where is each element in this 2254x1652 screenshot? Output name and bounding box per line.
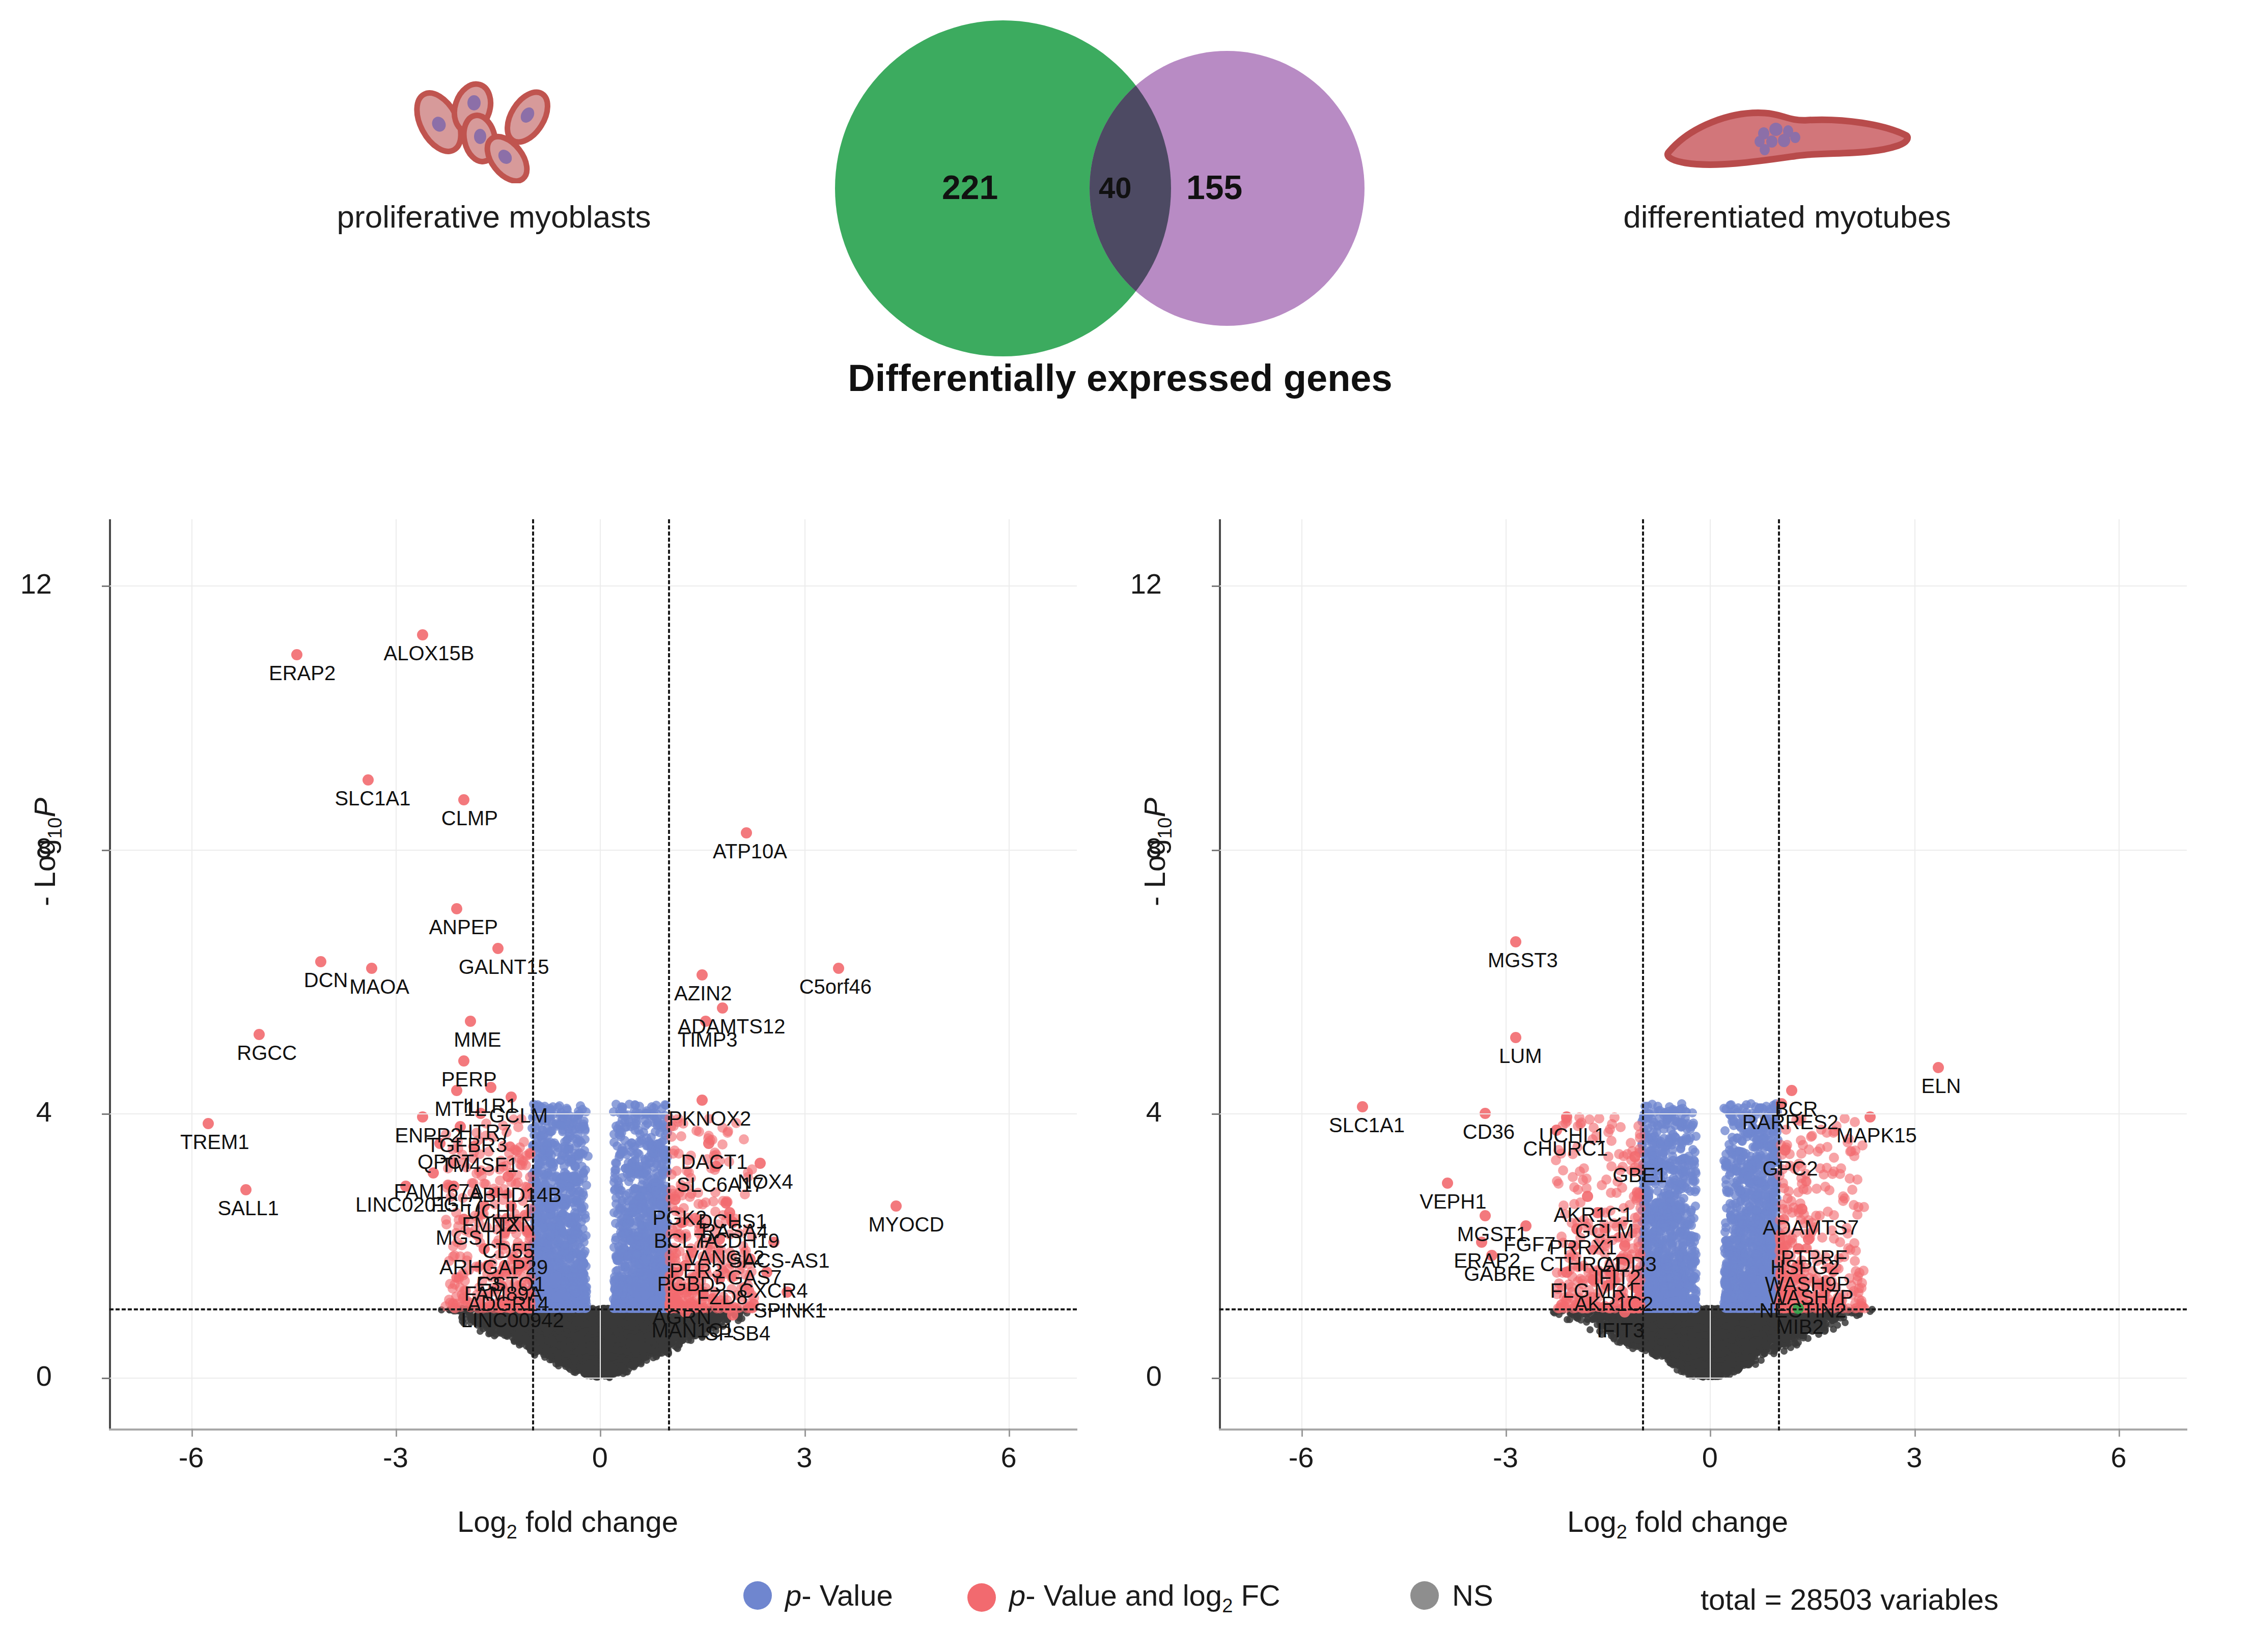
scatter-point — [586, 1359, 593, 1366]
scatter-point — [1720, 1268, 1729, 1277]
scatter-point — [542, 1347, 549, 1354]
scatter-point — [1717, 1366, 1724, 1373]
scatter-point — [1663, 1205, 1672, 1214]
scatter-point — [1657, 1193, 1666, 1202]
scatter-point — [1659, 1148, 1668, 1157]
x-tick-label: 3 — [1884, 1441, 1945, 1474]
scatter-point — [1933, 1062, 1944, 1073]
x-tick-label: -6 — [1271, 1441, 1332, 1474]
scatter-point — [445, 1279, 455, 1289]
gene-label: DCN — [304, 969, 348, 992]
scatter-point — [1616, 1122, 1626, 1132]
scatter-point — [636, 1346, 643, 1353]
scatter-point — [1668, 1152, 1677, 1161]
scatter-point — [650, 1255, 659, 1265]
scatter-point — [611, 1233, 621, 1242]
scatter-point — [564, 1322, 571, 1329]
scatter-point — [635, 1139, 645, 1148]
scatter-point — [465, 1016, 476, 1027]
scatter-point — [1767, 1142, 1776, 1152]
legend-item-p-value-log2fc: p- Value and log2 FC — [967, 1578, 1281, 1617]
scatter-point — [1786, 1085, 1797, 1096]
scatter-point — [1629, 1345, 1636, 1352]
gridline-vertical — [1301, 519, 1302, 1431]
x-tick-mark — [1914, 1429, 1916, 1437]
scatter-point — [543, 1142, 552, 1151]
scatter-point — [538, 1213, 547, 1222]
scatter-point — [458, 794, 469, 805]
scatter-point — [1510, 936, 1521, 947]
scatter-point — [1740, 1236, 1749, 1245]
scatter-point — [583, 1152, 593, 1161]
scatter-point — [1658, 1328, 1665, 1335]
gene-label: IFIT3 — [1597, 1319, 1644, 1342]
gridline-vertical — [1009, 519, 1010, 1431]
x-tick-label: 6 — [978, 1441, 1039, 1474]
scatter-point — [590, 1328, 597, 1335]
scatter-point — [1762, 1102, 1771, 1111]
gene-label: TM4SF1 — [440, 1154, 518, 1177]
scatter-point — [1729, 1368, 1736, 1375]
gene-label: ELN — [1922, 1075, 1961, 1098]
gene-label: PERP — [441, 1068, 497, 1091]
scatter-point — [1671, 1185, 1680, 1194]
gene-label: SALL1 — [218, 1197, 279, 1220]
x-tick-label: -6 — [161, 1441, 222, 1474]
scatter-point — [1732, 1303, 1741, 1312]
scatter-point — [1751, 1158, 1761, 1167]
gridline-vertical — [2119, 519, 2120, 1431]
y-tick-label: 0 — [0, 1359, 52, 1392]
y-tick-mark — [102, 585, 110, 587]
scatter-point — [581, 1295, 590, 1304]
total-variables-text: total = 28503 variables — [1701, 1582, 1998, 1616]
scatter-point — [1840, 1113, 1850, 1124]
scatter-point — [451, 903, 462, 914]
gene-label: ATP10A — [713, 840, 787, 863]
scatter-point — [630, 1207, 639, 1216]
scatter-point — [1357, 1101, 1368, 1112]
scatter-point — [1587, 1326, 1594, 1333]
scatter-point — [544, 1337, 551, 1345]
scatter-point — [648, 1347, 655, 1354]
scatter-point — [568, 1251, 577, 1261]
scatter-point — [623, 1110, 632, 1119]
venn-right-count: 155 — [1186, 168, 1242, 207]
x-tick-label: 0 — [1679, 1441, 1740, 1474]
pvalue-cutoff-line — [109, 1308, 1077, 1310]
gridline-horizontal — [1219, 1378, 2187, 1379]
scatter-point — [1699, 1343, 1706, 1350]
scatter-point — [1594, 1113, 1604, 1124]
scatter-point — [525, 1148, 536, 1158]
plot-area-right — [1219, 519, 2187, 1456]
y-tick-mark — [1212, 585, 1220, 587]
scatter-point — [653, 1139, 662, 1149]
scatter-point — [1672, 1226, 1681, 1235]
scatter-point — [539, 1223, 548, 1233]
scatter-point — [623, 1252, 632, 1261]
scatter-point — [1726, 1211, 1735, 1220]
scatter-point — [1690, 1187, 1700, 1196]
scatter-point — [1659, 1284, 1668, 1293]
scatter-point — [642, 1171, 651, 1181]
scatter-point — [1676, 1143, 1685, 1153]
scatter-point — [652, 1101, 661, 1110]
scatter-point — [1682, 1252, 1691, 1262]
scatter-point — [1754, 1216, 1763, 1225]
scatter-point — [637, 1334, 645, 1341]
legend: p- Value p- Value and log2 FC NS total =… — [0, 1558, 2254, 1629]
volcano-plot-differentiated-myotubes: - Log10P Log2 fold change -6-303604812MG… — [1130, 519, 2225, 1537]
gene-label: RARRES2 — [1742, 1111, 1839, 1134]
scatter-point — [626, 1217, 635, 1226]
scatter-point — [1649, 1314, 1656, 1322]
scatter-point — [1690, 1348, 1698, 1355]
scatter-point — [583, 1321, 590, 1328]
scatter-point — [417, 1111, 428, 1123]
gridline-horizontal — [109, 585, 1077, 586]
scatter-point — [1721, 1293, 1731, 1302]
gene-label: LUM — [1499, 1045, 1542, 1068]
gene-label: ANPEP — [429, 916, 498, 939]
scatter-point — [291, 649, 302, 660]
scatter-point — [1667, 1140, 1677, 1150]
scatter-point — [1724, 1250, 1734, 1259]
proliferative-myoblasts-icon — [407, 71, 580, 183]
x-tick-mark — [191, 1429, 193, 1437]
differentiated-myotubes-caption: differentiated myotubes — [1553, 199, 2021, 235]
scatter-point — [1573, 1185, 1583, 1195]
scatter-point — [610, 1323, 617, 1330]
scatter-point — [1764, 1244, 1773, 1253]
scatter-point — [632, 1119, 641, 1129]
legend-label-p-value: p- Value — [785, 1578, 893, 1612]
gene-label: GALNT15 — [459, 956, 549, 978]
x-axis-label-left: Log2 fold change — [20, 1504, 1115, 1543]
scatter-point — [635, 1315, 643, 1322]
venn-diagram: 221 40 155 — [835, 20, 1405, 356]
scatter-point — [1665, 1297, 1675, 1306]
gene-label: GABRE — [1464, 1263, 1535, 1285]
scatter-point — [1691, 1233, 1701, 1242]
scatter-point — [1442, 1178, 1453, 1189]
scatter-point — [1812, 1184, 1822, 1194]
y-tick-label: 8 — [0, 831, 52, 864]
scatter-point — [1703, 1319, 1710, 1326]
scatter-point — [1691, 1286, 1701, 1295]
scatter-point — [1858, 1266, 1869, 1276]
scatter-point — [1743, 1162, 1752, 1171]
differentiated-myotube-icon — [1655, 87, 1919, 178]
scatter-point — [1696, 1371, 1704, 1378]
scatter-point — [1510, 1032, 1521, 1043]
gene-label: SLC1A1 — [1329, 1114, 1405, 1137]
scatter-point — [1740, 1253, 1749, 1262]
scatter-point — [1729, 1336, 1736, 1343]
y-tick-mark — [102, 1378, 110, 1379]
scatter-point — [1813, 1146, 1823, 1157]
gene-label: CLMP — [441, 807, 498, 830]
legend-item-ns: NS — [1410, 1578, 1493, 1612]
y-tick-label: 8 — [1101, 831, 1162, 864]
scatter-point — [1733, 1167, 1742, 1176]
scatter-point — [629, 1186, 638, 1195]
scatter-point — [676, 1131, 686, 1141]
scatter-point — [1744, 1201, 1754, 1211]
scatter-point — [1838, 1196, 1848, 1206]
y-tick-mark — [102, 1113, 110, 1115]
gene-label: PKNOX2 — [669, 1107, 751, 1130]
scatter-point — [1853, 1287, 1863, 1298]
gridline-vertical — [600, 519, 601, 1431]
scatter-point — [1697, 1351, 1704, 1358]
y-tick-label: 0 — [1101, 1359, 1162, 1392]
scatter-point — [240, 1184, 252, 1195]
gene-label: MIB2 — [1776, 1315, 1823, 1338]
y-tick-label: 12 — [0, 567, 52, 600]
scatter-point — [833, 963, 844, 974]
legend-swatch-p-value-log2fc — [967, 1583, 996, 1612]
y-tick-label: 4 — [0, 1095, 52, 1128]
scatter-point — [1680, 1327, 1687, 1334]
gene-label: MYOCD — [868, 1213, 944, 1236]
scatter-point — [570, 1230, 579, 1239]
scatter-point — [1686, 1133, 1695, 1142]
scatter-point — [1584, 1316, 1591, 1323]
scatter-point — [574, 1213, 583, 1222]
x-tick-mark — [396, 1429, 397, 1437]
gene-label: SPSB4 — [705, 1322, 770, 1345]
scatter-point — [203, 1118, 214, 1129]
scatter-point — [611, 1122, 621, 1131]
scatter-point — [1629, 1151, 1640, 1162]
scatter-point — [1690, 1247, 1700, 1256]
scatter-point — [634, 1150, 644, 1159]
scatter-point — [1762, 1342, 1769, 1349]
y-tick-label: 12 — [1101, 567, 1162, 600]
gridline-horizontal — [109, 850, 1077, 851]
gene-label: AKR1C2 — [1574, 1293, 1654, 1315]
x-tick-mark — [804, 1429, 806, 1437]
scatter-point — [1829, 1153, 1839, 1163]
scatter-point — [1819, 1169, 1829, 1180]
scatter-point — [1720, 1126, 1730, 1135]
scatter-point — [1731, 1199, 1740, 1208]
scatter-point — [598, 1327, 605, 1334]
gene-label: TIMP3 — [678, 1028, 738, 1051]
plot-area-left — [109, 519, 1077, 1456]
scatter-point — [612, 1369, 619, 1377]
scatter-point — [315, 956, 326, 967]
scatter-point — [1783, 1193, 1793, 1203]
scatter-point — [1673, 1272, 1682, 1281]
scatter-point — [1761, 1190, 1770, 1199]
volcano-plot-proliferative-myoblasts: - Log10P Log2 fold change -6-303604812ER… — [20, 519, 1115, 1537]
scatter-point — [1726, 1241, 1735, 1250]
gene-label: MGST3 — [1488, 949, 1558, 972]
y-tick-mark — [1212, 1378, 1220, 1379]
scatter-point — [560, 1202, 569, 1212]
scatter-point — [624, 1349, 631, 1356]
scatter-point — [755, 1158, 766, 1169]
scatter-point — [602, 1315, 609, 1323]
scatter-point — [547, 1165, 556, 1174]
x-tick-label: 6 — [2088, 1441, 2149, 1474]
scatter-point — [551, 1120, 561, 1129]
scatter-point — [492, 943, 504, 954]
scatter-point — [651, 1178, 660, 1187]
scatter-point — [570, 1368, 577, 1376]
scatter-point — [1847, 1185, 1857, 1195]
scatter-point — [1661, 1223, 1670, 1232]
scatter-point — [655, 1128, 664, 1137]
scatter-point — [1850, 1256, 1860, 1266]
scatter-point — [1712, 1339, 1719, 1347]
scatter-point — [366, 963, 377, 974]
scatter-point — [1719, 1317, 1727, 1324]
x-tick-label: -3 — [1475, 1441, 1536, 1474]
scatter-point — [1759, 1351, 1766, 1358]
scatter-point — [1666, 1322, 1674, 1329]
scatter-point — [1667, 1234, 1676, 1243]
scatter-point — [611, 1347, 619, 1354]
scatter-point — [571, 1117, 580, 1126]
scatter-point — [630, 1289, 639, 1298]
scatter-point — [1582, 1191, 1593, 1202]
x-tick-mark — [1506, 1429, 1507, 1437]
pvalue-cutoff-line — [1219, 1308, 2187, 1310]
scatter-point — [1578, 1175, 1588, 1185]
gene-label: CD36 — [1463, 1121, 1515, 1143]
scatter-point — [1648, 1230, 1657, 1239]
scatter-point — [1564, 1316, 1571, 1323]
scatter-point — [578, 1314, 586, 1321]
scatter-point — [1835, 1169, 1845, 1179]
scatter-point — [1644, 1239, 1653, 1248]
legend-label-ns: NS — [1452, 1578, 1493, 1612]
legend-label-p-value-log2fc: p- Value and log2 FC — [1009, 1578, 1281, 1617]
scatter-point — [1733, 1345, 1740, 1352]
scatter-point — [363, 774, 374, 786]
scatter-point — [1687, 1206, 1696, 1215]
scatter-point — [739, 1134, 749, 1144]
scatter-point — [697, 969, 708, 981]
gridline-horizontal — [109, 1378, 1077, 1379]
y-tick-mark — [102, 850, 110, 851]
x-tick-mark — [1710, 1429, 1711, 1437]
scatter-point — [628, 1298, 637, 1307]
scatter-point — [741, 827, 752, 838]
scatter-point — [458, 1055, 469, 1067]
legend-item-p-value: p- Value — [743, 1578, 893, 1612]
scatter-point — [1727, 1147, 1736, 1157]
gene-label: TREM1 — [180, 1131, 249, 1154]
scatter-point — [1649, 1117, 1658, 1127]
gridline-vertical — [191, 519, 192, 1431]
scatter-point — [556, 1334, 563, 1341]
gridline-horizontal — [1219, 585, 2187, 586]
scatter-point — [570, 1354, 577, 1361]
gene-label: AZIN2 — [674, 982, 732, 1005]
gene-label: CHURC1 — [1523, 1137, 1608, 1160]
scatter-point — [621, 1229, 630, 1238]
gene-label: NOX4 — [738, 1170, 793, 1193]
gene-label: RGCC — [237, 1042, 297, 1065]
scatter-point — [891, 1200, 902, 1212]
gene-label: MAPK15 — [1836, 1124, 1917, 1147]
scatter-point — [1779, 1144, 1791, 1156]
x-tick-mark — [2119, 1429, 2120, 1437]
scatter-point — [577, 1263, 586, 1272]
scatter-point — [1584, 1114, 1595, 1125]
scatter-point — [1658, 1236, 1667, 1245]
gene-label: GPC2 — [1763, 1157, 1818, 1180]
scatter-point — [521, 1338, 528, 1345]
gene-label: MME — [454, 1028, 501, 1051]
scatter-point — [1673, 1214, 1682, 1223]
scatter-point — [619, 1147, 628, 1156]
x-tick-label: 3 — [774, 1441, 835, 1474]
scatter-point — [1682, 1347, 1689, 1354]
scatter-point — [637, 1198, 646, 1207]
scatter-point — [604, 1338, 611, 1345]
gridline-horizontal — [1219, 850, 2187, 851]
scatter-point — [574, 1152, 583, 1161]
scatter-point — [1647, 1341, 1654, 1348]
scatter-point — [612, 1159, 621, 1168]
scatter-point — [607, 1362, 614, 1369]
scatter-point — [1601, 1174, 1611, 1185]
scatter-point — [631, 1108, 641, 1117]
x-axis-label-right: Log2 fold change — [1130, 1504, 2225, 1543]
y-tick-mark — [1212, 1113, 1220, 1115]
gene-label: LINC00942 — [461, 1309, 564, 1332]
scatter-point — [1721, 1281, 1730, 1290]
scatter-point — [1726, 1313, 1733, 1320]
gene-label: C5orf46 — [799, 975, 872, 998]
scatter-point — [534, 1168, 543, 1178]
venn-title: Differentially expressed genes — [794, 356, 1446, 400]
gene-label: MAOA — [349, 975, 409, 998]
gene-label: SPINK1 — [754, 1299, 826, 1322]
scatter-point — [1579, 1163, 1589, 1173]
x-tick-mark — [600, 1429, 601, 1437]
scatter-point — [697, 1095, 708, 1106]
gene-label: SLC1A1 — [335, 787, 410, 810]
scatter-point — [560, 1144, 569, 1153]
venn-left-count: 221 — [942, 168, 998, 207]
scatter-point — [628, 1324, 635, 1331]
scatter-point — [641, 1121, 650, 1130]
gridline-vertical — [1710, 519, 1711, 1431]
scatter-point — [1751, 1249, 1760, 1258]
gene-label: GBE1 — [1612, 1164, 1667, 1187]
gene-label: ADAMTS7 — [1763, 1216, 1859, 1239]
x-tick-label: -3 — [365, 1441, 426, 1474]
scatter-point — [569, 1175, 578, 1184]
proliferative-myoblasts-caption: proliferative myoblasts — [326, 199, 662, 235]
y-tick-mark — [1212, 850, 1220, 851]
gene-label: VEPH1 — [1420, 1190, 1486, 1213]
x-tick-label: 0 — [569, 1441, 630, 1474]
top-panel: proliferative myoblasts differentiated m… — [0, 0, 2254, 448]
scatter-point — [567, 1272, 576, 1281]
legend-swatch-p-value — [743, 1581, 772, 1610]
scatter-point — [614, 1287, 623, 1297]
x-tick-mark — [1301, 1429, 1303, 1437]
scatter-point — [618, 1198, 627, 1208]
